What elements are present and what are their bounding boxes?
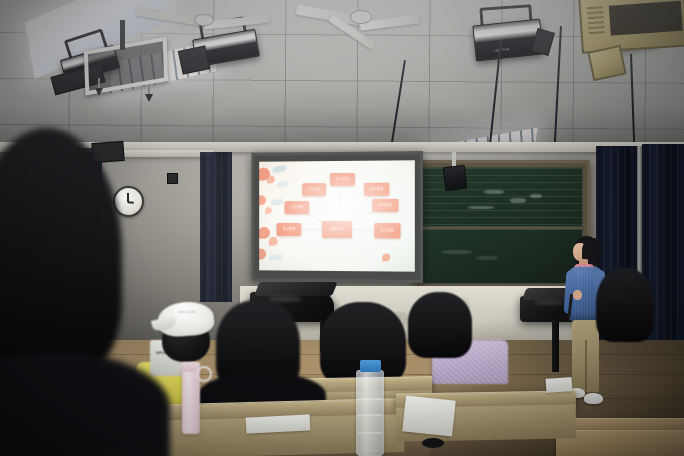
mindmap-node-4: 目标规划 <box>372 199 398 212</box>
dark-round-object <box>422 438 444 448</box>
paper-sheet-right <box>402 395 455 436</box>
presentation-slide: 分享内容 学习方法 时间管理 目标规划 心态调整 笔记整理 高效 <box>259 160 415 271</box>
mindmap-node-7: 复习总结 <box>374 223 400 238</box>
thermos-strap <box>196 366 212 382</box>
lecture-hall-photo: LED PAR <box>0 0 684 456</box>
water-bottle-cap <box>360 360 381 372</box>
projection-screen-surface: 分享内容 学习方法 时间管理 目标规划 心态调整 笔记整理 高效 <box>259 160 415 271</box>
cap-logo-text: NEW YORK <box>178 310 196 314</box>
presenter-shoe-right <box>584 393 603 404</box>
ceiling-shading <box>0 0 684 152</box>
audience-far-right <box>596 268 654 342</box>
trouser-seam <box>585 340 587 392</box>
paper-sheet-far <box>546 377 573 393</box>
slide-corner-flower <box>382 253 390 261</box>
chalkboard-lower-panel <box>421 229 583 284</box>
stage-curtain-mid <box>200 152 232 302</box>
mindmap-node-3: 时间管理 <box>364 183 389 196</box>
projection-screen-frame: 分享内容 学习方法 时间管理 目标规划 心态调整 笔记整理 高效 <box>251 151 423 283</box>
board-mounted-speaker <box>443 165 467 191</box>
paper-sheet-left <box>246 414 311 433</box>
presenter-hand <box>573 290 582 300</box>
mindmap-node-5: 心态调整 <box>285 201 310 214</box>
mindmap-node-1: 分享内容 <box>302 183 326 196</box>
water-bottle <box>356 370 384 456</box>
mindmap-node-6: 笔记整理 <box>277 223 302 236</box>
wall-switch-box <box>167 173 178 184</box>
ceiling: LED PAR <box>0 0 684 152</box>
mindmap-node-hub: 高效学习 <box>322 221 352 238</box>
audience-right-lavender <box>408 292 472 358</box>
mindmap-node-2: 学习方法 <box>330 173 355 186</box>
